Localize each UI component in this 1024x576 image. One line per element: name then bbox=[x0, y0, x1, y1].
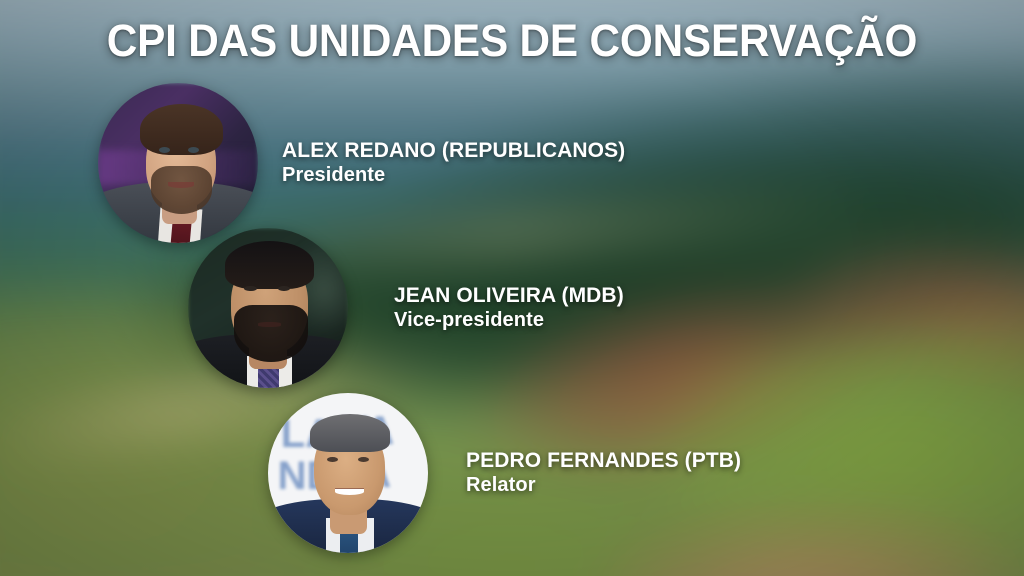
member-text: JEAN OLIVEIRA (MDB) Vice-presidente bbox=[394, 284, 624, 332]
member-name: PEDRO FERNANDES (PTB) bbox=[466, 449, 741, 474]
avatar bbox=[188, 228, 348, 388]
portrait-beard bbox=[151, 166, 212, 214]
member-row-rapporteur: LA VA ND IA PEDRO FERNANDES (PTB) Relato… bbox=[268, 393, 741, 553]
member-name: ALEX REDANO (REPUBLICANOS) bbox=[282, 139, 625, 164]
member-row-vice-president: JEAN OLIVEIRA (MDB) Vice-presidente bbox=[188, 228, 624, 388]
member-text: ALEX REDANO (REPUBLICANOS) Presidente bbox=[282, 139, 625, 187]
avatar bbox=[98, 83, 258, 243]
pedro-fernandes-portrait: LA VA ND IA bbox=[268, 393, 428, 553]
member-role: Presidente bbox=[282, 164, 625, 188]
portrait-hair bbox=[140, 104, 223, 155]
member-name: JEAN OLIVEIRA (MDB) bbox=[394, 284, 624, 309]
alex-redano-portrait bbox=[98, 83, 258, 243]
portrait-hair bbox=[225, 241, 315, 289]
jean-oliveira-portrait bbox=[188, 228, 348, 388]
member-text: PEDRO FERNANDES (PTB) Relator bbox=[466, 449, 741, 497]
portrait-eye-right bbox=[188, 147, 199, 153]
portrait-mouth bbox=[168, 182, 194, 188]
member-role: Relator bbox=[466, 474, 741, 498]
portrait-eye-left bbox=[244, 286, 257, 291]
page-title: CPI DAS UNIDADES DE CONSERVAÇÃO bbox=[31, 18, 994, 63]
portrait-mouth bbox=[258, 322, 280, 326]
member-row-president: ALEX REDANO (REPUBLICANOS) Presidente bbox=[98, 83, 625, 243]
portrait-eye-left bbox=[159, 147, 170, 153]
member-role: Vice-presidente bbox=[394, 309, 624, 333]
graphic-card: CPI DAS UNIDADES DE CONSERVAÇÃO ALEX RED… bbox=[0, 0, 1024, 576]
portrait-eye-right bbox=[358, 457, 369, 462]
portrait-hair bbox=[310, 414, 390, 452]
avatar: LA VA ND IA bbox=[268, 393, 428, 553]
